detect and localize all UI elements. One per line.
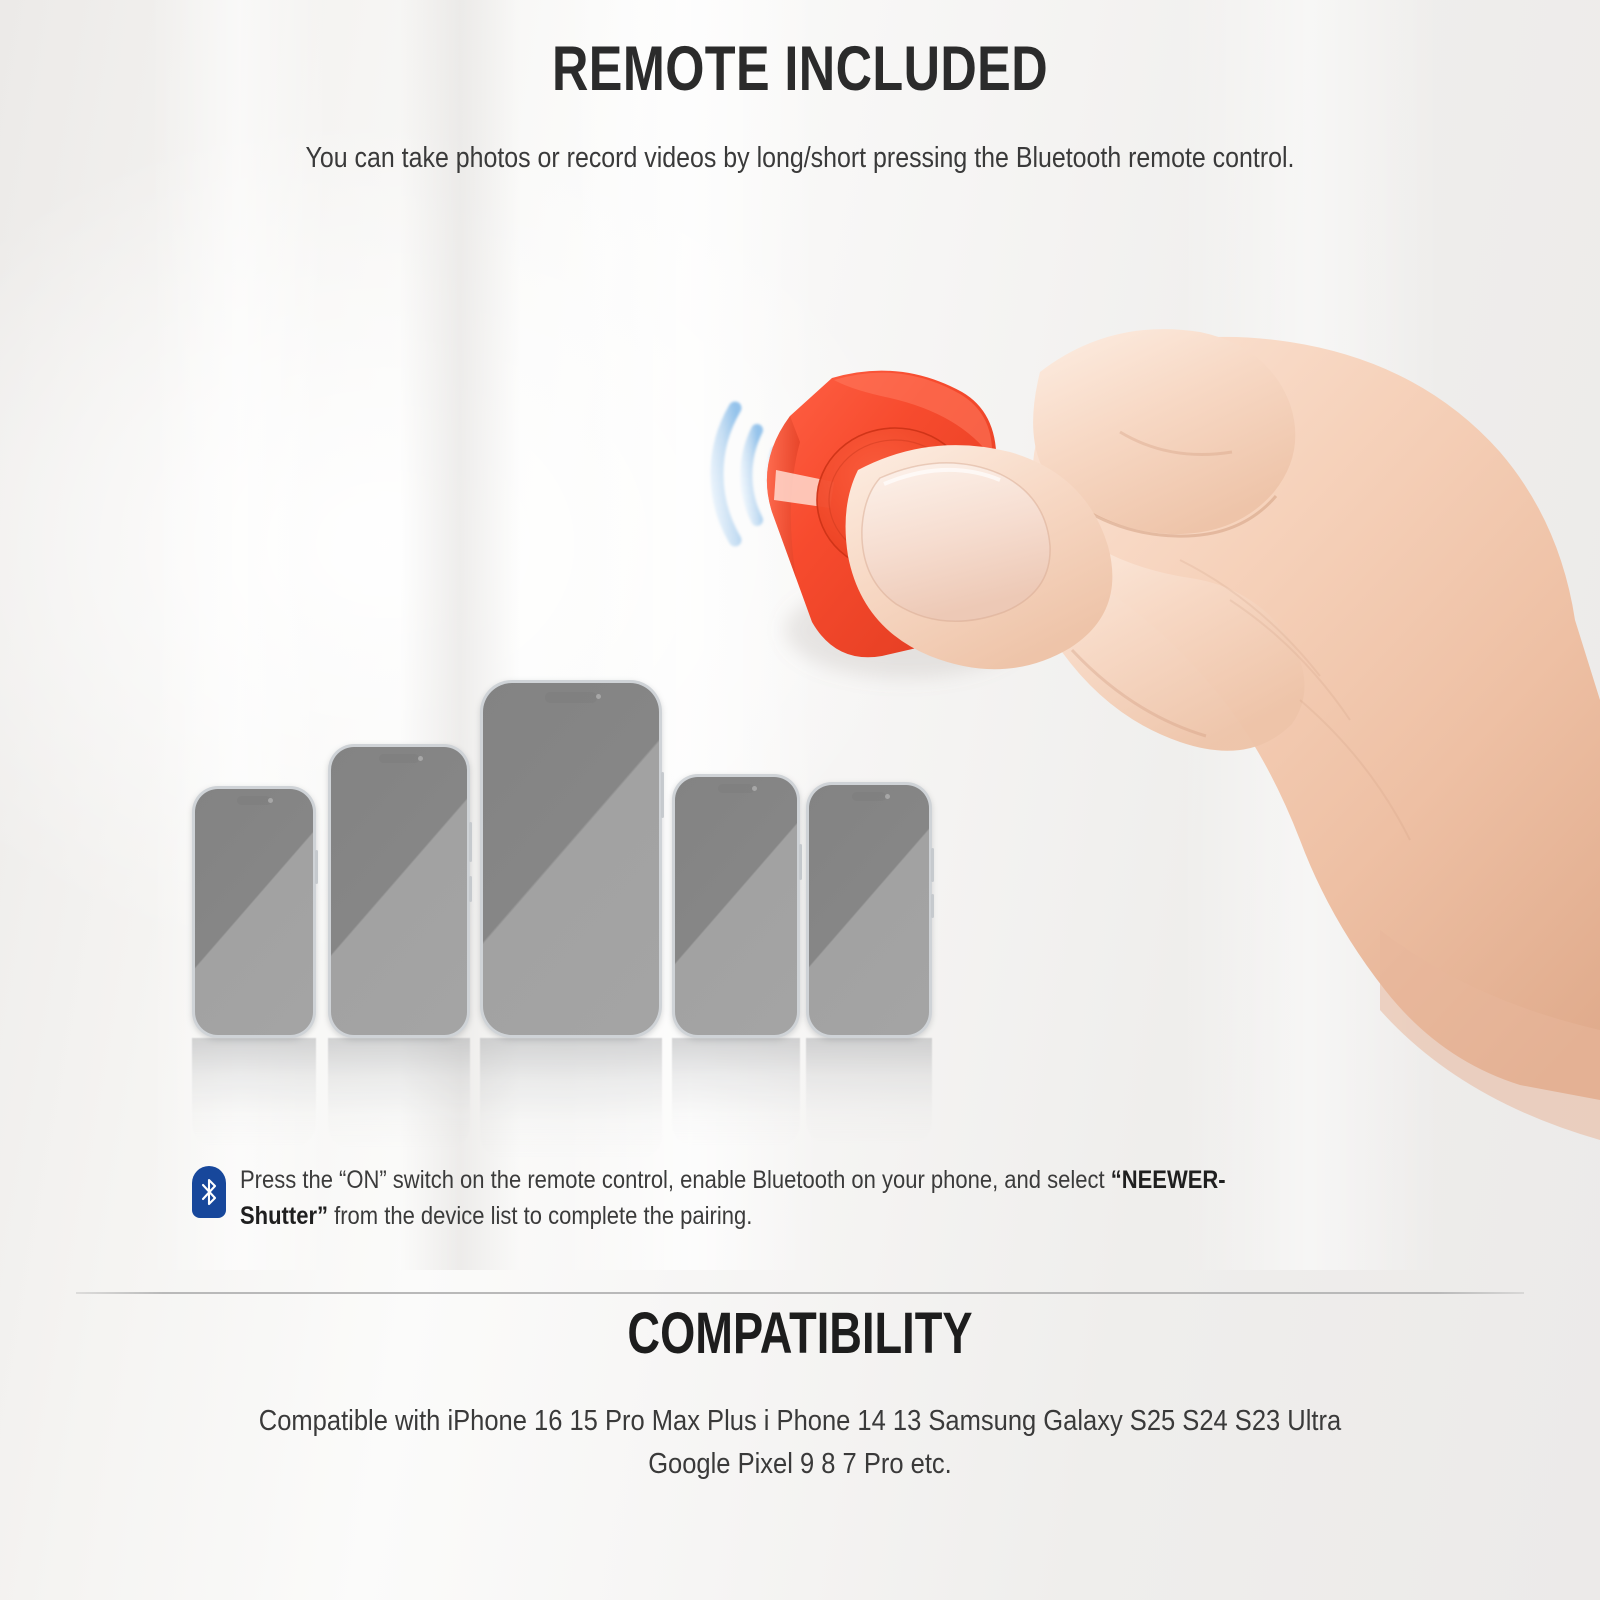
section-divider	[76, 1292, 1524, 1294]
phone-screen	[195, 789, 313, 1035]
phone-camera-dot	[418, 756, 423, 761]
phone-side-button	[469, 822, 472, 862]
phone-side-button	[661, 772, 664, 818]
bluetooth-note-text: Press the “ON” switch on the remote cont…	[240, 1163, 1263, 1234]
phone-side-button	[315, 850, 318, 884]
backdrop-streak-2	[400, 0, 520, 1270]
phone-silhouette	[192, 786, 316, 1038]
phone-reflection	[328, 1038, 470, 1148]
phone-camera-dot	[596, 694, 601, 699]
phone-side-button	[469, 876, 472, 902]
phone-silhouette	[672, 774, 800, 1038]
backdrop-streak-4	[1180, 0, 1440, 1270]
hand	[846, 329, 1600, 1140]
phone-side-button	[931, 894, 934, 918]
phone-reflection	[192, 1038, 316, 1146]
phone-screen	[809, 785, 929, 1035]
phone-notch	[545, 692, 597, 703]
compatibility-line-2: Google Pixel 9 8 7 Pro etc.	[96, 1443, 1504, 1486]
phone-notch	[237, 796, 271, 805]
phone-camera-dot	[885, 794, 890, 799]
bluetooth-note-line1: Press the “ON” switch on the remote cont…	[240, 1166, 1111, 1194]
phone-screen	[331, 747, 467, 1035]
compatibility-text: Compatible with iPhone 16 15 Pro Max Plu…	[96, 1400, 1504, 1486]
bluetooth-remote-device: NEEWER	[767, 371, 997, 658]
compatibility-title: COMPATIBILITY	[176, 1305, 1424, 1363]
product-infographic: REMOTE INCLUDED You can take photos or r…	[0, 0, 1600, 1600]
remote-shutter-button	[817, 428, 973, 572]
phone-side-button	[799, 844, 802, 880]
backdrop-streak-3	[560, 0, 820, 1270]
remote-shadow	[785, 582, 1025, 678]
phone-reflection	[672, 1038, 800, 1146]
remote-brand-text: NEEWER	[900, 562, 995, 610]
backdrop-streak-1	[150, 0, 330, 1270]
phone-camera-dot	[752, 786, 757, 791]
phone-screen	[675, 777, 797, 1035]
phone-notch	[852, 792, 886, 801]
phone-reflection	[480, 1038, 662, 1158]
page-title: REMOTE INCLUDED	[160, 38, 1440, 101]
bluetooth-pairing-note: Press the “ON” switch on the remote cont…	[192, 1163, 1402, 1234]
bluetooth-note-line2: from the device list to complete the pai…	[328, 1202, 752, 1230]
phone-camera-dot	[268, 798, 273, 803]
phone-notch	[718, 784, 754, 793]
bluetooth-signal-waves	[717, 408, 776, 540]
bluetooth-glyph	[199, 1177, 219, 1207]
phone-side-button	[931, 848, 934, 882]
phone-silhouette	[328, 744, 470, 1038]
compatibility-line-1: Compatible with iPhone 16 15 Pro Max Plu…	[96, 1400, 1504, 1443]
bluetooth-icon	[192, 1166, 226, 1218]
phone-reflection	[806, 1038, 932, 1144]
phone-silhouette	[480, 680, 662, 1038]
phone-silhouette	[806, 782, 932, 1038]
phone-notch	[379, 754, 419, 763]
page-subtitle: You can take photos or record videos by …	[112, 140, 1488, 176]
phone-screen	[483, 683, 659, 1035]
